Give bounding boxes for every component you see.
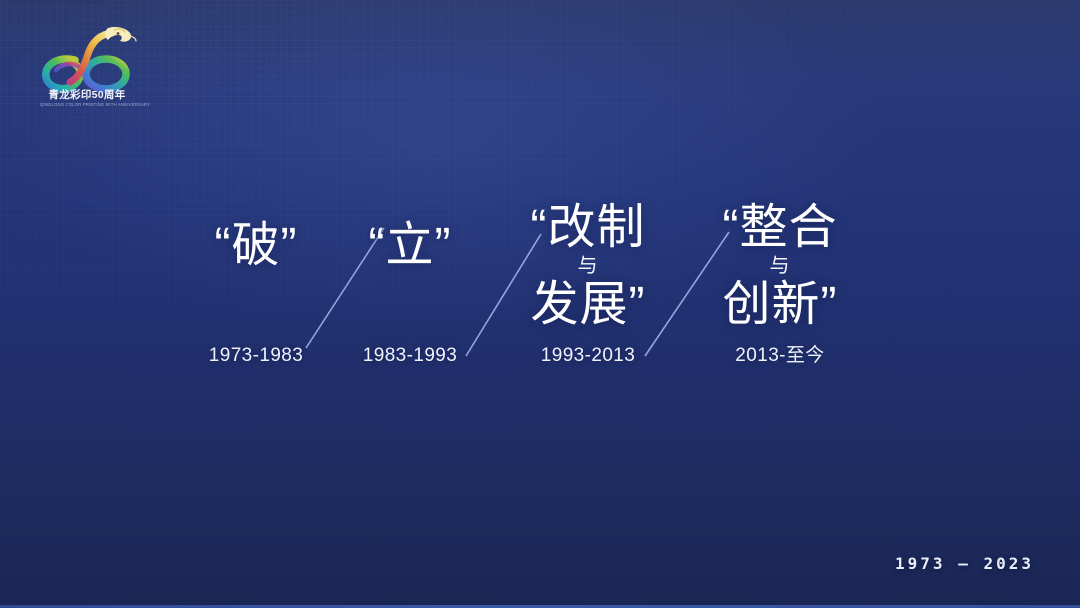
phase-1-title: “破”: [176, 220, 336, 272]
phase-4-title: “整合: [690, 202, 870, 254]
timeline-phase-2[interactable]: “立” 1983-1993: [330, 220, 490, 272]
phase-1-years: 1973-1983: [176, 346, 336, 365]
phase-3-conjunction: 与: [498, 254, 678, 279]
timeline-phase-3[interactable]: “改制 与 发展” 1993-2013: [498, 202, 678, 331]
phase-3-title: “改制: [498, 202, 678, 254]
phase-3-title-second-line: 发展”: [498, 279, 678, 331]
footer-year-range: 1973 — 2023: [895, 554, 1034, 573]
phase-3-years: 1993-2013: [498, 346, 678, 365]
presentation-slide: 青龙彩印50周年 QINGLONG COLOR PRINTING 50TH AN…: [0, 0, 1080, 608]
phase-2-title: “立”: [330, 220, 490, 272]
logo-wordmark: 青龙彩印50周年: [40, 90, 134, 101]
phase-4-title-second-line: 创新”: [690, 279, 870, 331]
anniversary-logo[interactable]: 青龙彩印50周年 QINGLONG COLOR PRINTING 50TH AN…: [34, 16, 138, 110]
logo-sub-wordmark: QINGLONG COLOR PRINTING 50TH ANNIVERSARY: [40, 103, 134, 107]
timeline-phase-4[interactable]: “整合 与 创新” 2013-至今: [690, 202, 870, 331]
phase-4-years: 2013-至今: [690, 346, 870, 365]
phase-4-conjunction: 与: [690, 254, 870, 279]
phase-2-years: 1983-1993: [330, 346, 490, 365]
timeline-phase-1[interactable]: “破” 1973-1983: [176, 220, 336, 272]
